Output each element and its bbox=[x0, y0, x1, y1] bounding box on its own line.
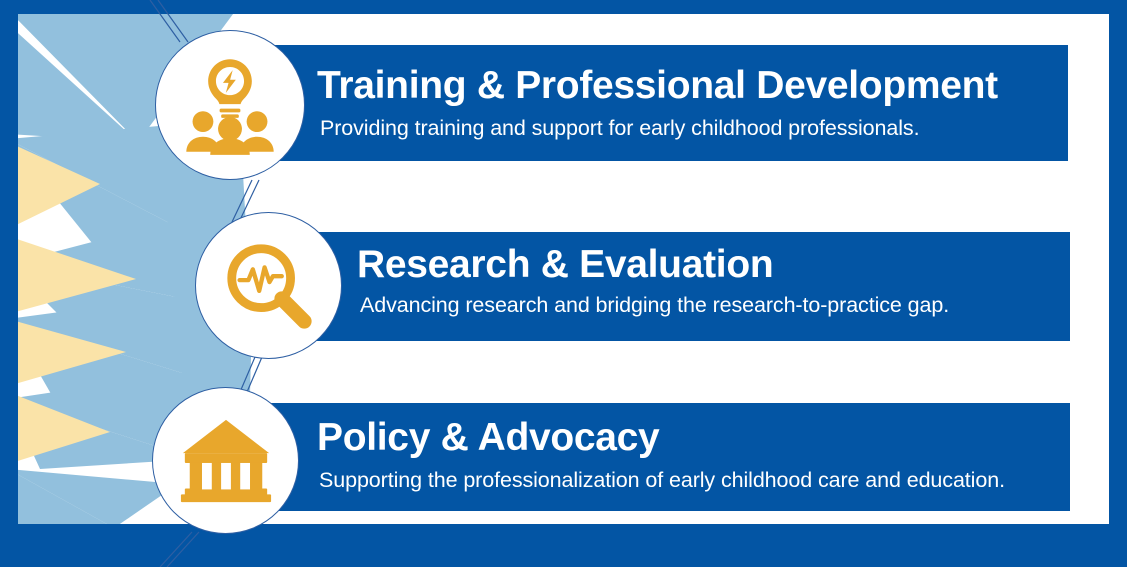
infographic-canvas: Training & Professional Development Prov… bbox=[0, 0, 1127, 567]
node-circle-research[interactable] bbox=[195, 212, 342, 359]
column-gaps bbox=[201, 462, 249, 488]
magnifier-pulse-icon bbox=[220, 237, 318, 335]
row-title-2: Research & Evaluation bbox=[357, 245, 773, 284]
row-subtitle-3: Supporting the professionalization of ea… bbox=[319, 470, 1005, 492]
row-title-3: Policy & Advocacy bbox=[317, 418, 659, 457]
lightbulb-people-icon bbox=[178, 53, 282, 157]
row-subtitle-1: Providing training and support for early… bbox=[320, 118, 919, 140]
connector-bottom-2 bbox=[167, 532, 199, 567]
connector-bottom bbox=[160, 532, 192, 567]
node-circle-policy[interactable] bbox=[152, 387, 299, 534]
row-title-1: Training & Professional Development bbox=[317, 66, 998, 105]
node-circle-training[interactable] bbox=[155, 30, 305, 180]
row-subtitle-2: Advancing research and bridging the rese… bbox=[360, 295, 949, 317]
government-building-icon bbox=[177, 412, 275, 510]
